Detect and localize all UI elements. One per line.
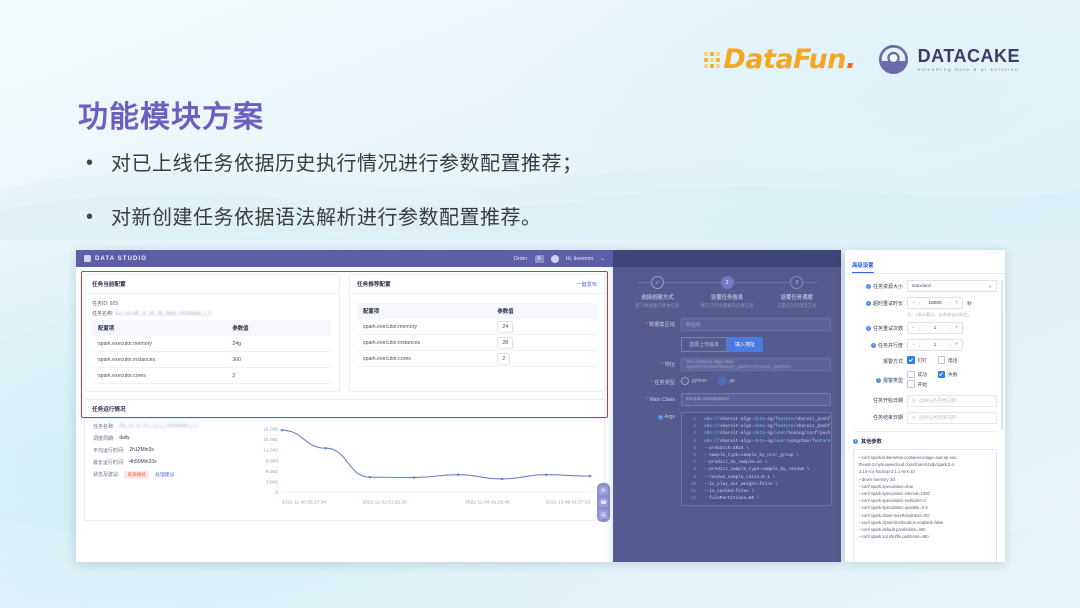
other-param-line: --conf spark.speculation.quantile=0.9 — [859, 504, 991, 511]
args-field-row: i Args 123456789101112 obs://shareit-alg… — [623, 412, 831, 506]
start-date-label: 任务开始日期 — [853, 397, 903, 404]
other-param-line: --conf spark.default.parallelism=480 — [859, 526, 991, 533]
table-header-row: 配置项 参数值 — [92, 320, 332, 336]
step-label: 设置任务调度 — [762, 293, 831, 301]
y-axis-tick-label: 0 — [275, 490, 278, 496]
code-line: obs://shareit-algo-data-sg/feature/share… — [704, 416, 831, 423]
other-param-line: --conf spark.speculation.multiplier=2 — [859, 497, 991, 504]
app-brand: DATA STUDIO — [84, 255, 147, 262]
floating-action-bar[interactable]: ✉ ☎ ▤ — [597, 483, 610, 522]
args-code-editor[interactable]: 123456789101112 obs://shareit-algo-data-… — [681, 412, 832, 506]
resource-size-value: standard — [912, 284, 931, 289]
create-task-panel: ✓ 选择创建方式 定义数据集的基本信息 2 设置任务信息 填写任务所需要的必要信… — [613, 250, 841, 562]
end-date-input[interactable]: ◷ 选择任务结束日期 — [907, 412, 997, 424]
step-check-icon: ✓ — [651, 276, 664, 289]
status-badge: 资源倾斜 — [124, 471, 148, 479]
publish-all-link[interactable]: 一键发布 — [576, 281, 597, 288]
tab-advanced-settings[interactable]: 高级设置 — [852, 261, 874, 273]
code-content: obs://shareit-algo-data-sg/feature/share… — [700, 416, 831, 502]
code-line-number: 1 — [682, 416, 696, 423]
chart-data-point — [545, 474, 547, 476]
mainclass-label: * Main Class — [623, 397, 675, 403]
task-id-row: 任务ID: 925 — [92, 300, 332, 307]
step-desc: 填写任务所需要的必要信息 — [693, 303, 762, 309]
datacake-logo: DATACAKE streaming data & ai solution — [878, 44, 1020, 75]
chart-data-point — [325, 447, 327, 449]
chart-data-point — [589, 475, 591, 477]
x-axis-tick-label: 2022-12-06 01:57:33 — [546, 500, 591, 506]
checkbox-checked-icon — [938, 371, 946, 379]
timeout-unit: 秒 — [967, 300, 972, 307]
radio-python[interactable]: python — [681, 377, 707, 385]
recommend-config-title: 任务推荐配置 — [357, 280, 391, 288]
mainclass-field-row: * Main Class sample.SampleBare — [623, 393, 831, 406]
column-header-value: 参数值 — [491, 303, 597, 319]
end-date-row: 任务结束日期 ◷ 选择任务结束日期 — [853, 412, 997, 424]
step-item-2[interactable]: 2 设置任务信息 填写任务所需要的必要信息 — [693, 276, 762, 309]
run-status-title: 任务运行情况 — [92, 405, 126, 413]
parallel-value[interactable]: 1 — [919, 343, 951, 348]
code-line-number: 12 — [682, 495, 696, 502]
bullet-list: • 对已上线任务依据历史执行情况进行参数配置推荐； • 对新创建任务依据语法解析… — [86, 152, 786, 260]
code-line-number: 6 — [682, 452, 696, 459]
run-field-row: 平均运行时间: 2h12Min3s — [93, 447, 243, 454]
source-mode-row: 选择上传版本 填入地址 — [623, 337, 831, 352]
chart-data-point — [369, 476, 371, 478]
resource-size-select[interactable]: standard ▼ — [907, 280, 997, 292]
advanced-settings-dialog: 高级设置 i任务资源大小 standard ▼ i超时重试时长 − 18000 … — [845, 250, 1005, 562]
other-param-line: --conf spark.speculation=true — [859, 483, 991, 490]
run-duration-chart: 03,0006,0009,00012,00015,00018,0002022-1… — [249, 423, 596, 514]
other-param-line: --conf spark.driver.maxResultSize=3G — [859, 512, 991, 519]
chart-data-point — [501, 478, 503, 480]
message-icon[interactable]: ✉ — [599, 486, 608, 495]
args-label: i Args — [623, 412, 675, 420]
info-icon: i — [866, 326, 871, 331]
info-icon: i — [658, 415, 663, 420]
language-badge-icon[interactable]: A — [535, 255, 544, 263]
code-line-number: 5 — [682, 445, 696, 452]
clock-icon: ◷ — [912, 415, 916, 421]
run-field-label: 任务名称: — [93, 423, 114, 430]
decrement-button[interactable]: − — [908, 325, 919, 331]
run-field-value: 4h50Min33s — [129, 459, 156, 465]
page-title: 功能模块方案 — [78, 92, 264, 136]
task-name-value: d-a_sa-sdk_ol_trti_rtp_daily_renhantao_t… — [115, 311, 211, 317]
end-date-placeholder: 选择任务结束日期 — [919, 415, 956, 421]
chart-data-point — [413, 476, 415, 478]
list-item: • 对新创建任务依据语法解析进行参数配置推荐。 — [86, 206, 786, 230]
region-input[interactable]: 新加坡 — [681, 318, 831, 331]
checkbox-failure[interactable]: 失败 — [938, 371, 958, 379]
checkbox-phone[interactable]: 电话 — [938, 356, 958, 364]
address-label: * 地址 — [623, 361, 675, 368]
timeout-row: i超时重试时长 − 18000 + 秒 — [853, 297, 997, 309]
recommend-config-table: 配置项 参数值 spark.executor.memory 24 spark.e… — [357, 303, 597, 367]
info-icon: i — [876, 378, 881, 383]
panel-header-bar — [613, 250, 841, 267]
current-config-title: 任务当前配置 — [92, 280, 126, 288]
code-line: --is_play_dur_weight=false \ — [704, 481, 831, 488]
datafun-logo: DataFun. — [704, 44, 855, 75]
run-status-label: 状态及建议: — [93, 471, 119, 478]
code-line-number: 7 — [682, 459, 696, 466]
dialog-tabs: 高级设置 — [845, 250, 1005, 274]
list-icon[interactable]: ▤ — [599, 510, 608, 519]
start-date-placeholder: 选择任务开始日期 — [919, 398, 956, 404]
alarm-type-row: i报警类型 成功 失败 开始 — [853, 371, 997, 390]
mainclass-input[interactable]: sample.SampleBare — [681, 393, 831, 406]
other-param-line: --conf spark.kubernetes.container.image=… — [859, 454, 991, 461]
retry-value[interactable]: 1 — [919, 326, 951, 331]
table-row: spark.executor.instances 300 — [92, 352, 332, 368]
checkbox-success[interactable]: 成功 — [907, 371, 927, 379]
config-value: 300 — [226, 352, 332, 368]
info-icon: i — [866, 301, 871, 306]
config-value-input[interactable]: 24 — [497, 321, 513, 333]
column-header-key: 配置项 — [357, 303, 491, 319]
radio-circle-selected-icon — [718, 377, 726, 385]
datacake-tagline: streaming data & ai solution — [918, 68, 1020, 73]
other-param-line: --conf spark.dynamicAllocation.enabled=f… — [859, 519, 991, 526]
run-status-card: 任务运行情况 任务名称: dw_ur_xx_ol_x_y_z_renhantao… — [84, 399, 605, 521]
run-field-row: 任务名称: dw_ur_xx_ol_x_y_z_renhantao_t_2 — [93, 423, 243, 430]
table-row: spark.executor.memory 24 — [357, 319, 597, 335]
checkbox-checked-icon — [907, 356, 915, 364]
other-param-line: theast-3.myhuaweicloud.com/shareit-bdp/s… — [859, 461, 991, 468]
config-value-input[interactable]: 2 — [497, 353, 510, 365]
timeout-value[interactable]: 18000 — [919, 301, 951, 306]
app-screenshot: DATA STUDIO Order A Hi, liweimin ⌄ 任务当前配… — [76, 250, 613, 562]
code-line: obs://shareit-algo-data-sg/feature/share… — [704, 423, 831, 430]
region-label: * 数据集区域 — [623, 321, 675, 328]
suggestion-link[interactable]: 处理建议 — [155, 473, 174, 478]
y-axis-tick-label: 18,000 — [263, 427, 278, 433]
retry-row: i任务重试次数 − 1 + — [853, 322, 997, 334]
retry-stepper[interactable]: − 1 + — [907, 322, 963, 334]
segment-upload-version[interactable]: 选择上传版本 — [681, 337, 727, 352]
chevron-down-icon[interactable]: ⌄ — [600, 256, 605, 262]
step-indicator: ✓ 选择创建方式 定义数据集的基本信息 2 设置任务信息 填写任务所需要的必要信… — [623, 276, 831, 309]
other-param-line: 3.14-rc4-hadoop-3.1.1-mrs-10 — [859, 468, 991, 475]
checkbox-icon — [907, 371, 915, 379]
order-menu[interactable]: Order — [514, 256, 528, 262]
app-logo-icon — [84, 255, 91, 262]
code-line-number: 2 — [682, 423, 696, 430]
timeout-hint: 注：0表示默认，由系统自动指定。 — [907, 312, 997, 317]
code-line: --random_sample_ratio=0.1 \ — [704, 474, 831, 481]
parallel-row: i任务并行度 − 1 + — [853, 339, 997, 351]
x-axis-tick-label: 2022-12-04 01:29:48 — [465, 500, 510, 506]
app-brand-label: DATA STUDIO — [95, 256, 147, 262]
code-line-number: 9 — [682, 474, 696, 481]
radio-jar[interactable]: jar — [718, 377, 735, 385]
datafun-dots-icon — [704, 52, 720, 68]
current-config-table: 配置项 参数值 spark.executor.memory 24g spark.… — [92, 320, 332, 384]
other-params-section-title: i 其他参数 — [853, 431, 997, 445]
alarm-way-label: 报警方式 — [853, 358, 903, 365]
headset-icon[interactable]: ☎ — [599, 498, 608, 507]
step-number: 2 — [721, 276, 734, 289]
checkbox-icon — [938, 356, 946, 364]
scrollbar[interactable] — [1001, 280, 1003, 430]
checkbox-dingtalk[interactable]: 钉钉 — [907, 356, 927, 364]
source-mode-segmented[interactable]: 选择上传版本 填入地址 — [681, 337, 831, 352]
chart-line-series — [282, 430, 590, 479]
code-line-number: 8 — [682, 466, 696, 473]
step-desc: 定义数据集的基本信息 — [623, 303, 692, 309]
line-chart-svg: 03,0006,0009,00012,00015,00018,0002022-1… — [249, 423, 596, 509]
code-line-numbers: 123456789101112 — [682, 416, 700, 502]
recommend-config-card: 任务推荐配置 一键发布 配置项 参数值 spark.executor.memor… — [349, 274, 605, 392]
retry-label: i任务重试次数 — [853, 325, 903, 332]
code-line: --filePartitions=50 \ — [704, 495, 831, 502]
code-line: --predict_do_sample=on \ — [704, 459, 831, 466]
x-axis-tick-label: 2022-12-02 01:52:26 — [362, 500, 407, 506]
datafun-wordmark: DataFun. — [723, 44, 855, 75]
y-axis-tick-label: 9,000 — [266, 458, 278, 464]
x-axis-tick-label: 2022-11-30 05:17:34 — [282, 500, 327, 506]
radio-circle-icon — [681, 377, 689, 385]
bullet-text: 对已上线任务依据历史执行情况进行参数配置推荐； — [111, 152, 583, 176]
increment-button[interactable]: + — [951, 325, 962, 331]
address-field-row: * 地址 obs://shareit-algo-data-sg/SPESh/us… — [623, 358, 831, 371]
increment-button[interactable]: + — [951, 342, 962, 348]
logo-row: DataFun. DATACAKE streaming data & ai so… — [704, 44, 1020, 75]
step-item-1[interactable]: ✓ 选择创建方式 定义数据集的基本信息 — [623, 276, 692, 309]
run-field-label: 平均运行时间: — [93, 447, 124, 454]
code-line-number: 3 — [682, 430, 696, 437]
config-key: spark.executor.instances — [357, 335, 491, 351]
info-icon: i — [866, 284, 871, 289]
config-key: spark.executor.cores — [92, 368, 226, 384]
task-name-row: 任务名称: d-a_sa-sdk_ol_trti_rtp_daily_renha… — [92, 310, 332, 317]
y-axis-tick-label: 3,000 — [266, 480, 278, 486]
code-line-number: 10 — [682, 481, 696, 488]
code-line-number: 4 — [682, 438, 696, 445]
app-header-bar: DATA STUDIO Order A Hi, liweimin ⌄ — [76, 250, 613, 267]
task-type-row: * 任务类型 python jar — [623, 377, 831, 387]
run-field-value: daily — [119, 435, 129, 441]
code-line: --predict_sample_type=sample_by_random \ — [704, 466, 831, 473]
run-field-label: 调度周期: — [93, 435, 114, 442]
y-axis-tick-label: 15,000 — [263, 437, 278, 443]
start-date-input[interactable]: ◷ 选择任务开始日期 — [907, 395, 997, 407]
task-id-value: 925 — [110, 301, 118, 307]
config-key: spark.executor.memory — [357, 319, 491, 335]
address-input[interactable]: obs://shareit-algo-data-sg/SPESh/user/fe… — [681, 358, 831, 371]
region-field-row: * 数据集区域 新加坡 — [623, 318, 831, 331]
chart-data-point — [281, 429, 283, 431]
alarm-type-label: i报警类型 — [853, 377, 903, 384]
datacake-name-b: CAKE — [967, 46, 1020, 66]
run-field-value: 2h12Min3s — [129, 447, 153, 453]
step-label: 设置任务信息 — [693, 293, 762, 301]
column-header-value: 参数值 — [226, 320, 332, 336]
end-date-label: 任务结束日期 — [853, 414, 903, 421]
table-row: spark.executor.memory 24g — [92, 336, 332, 352]
decrement-button[interactable]: − — [908, 342, 919, 348]
bullet-marker: • — [86, 206, 93, 228]
table-row: spark.executor.cores 2 — [92, 368, 332, 384]
step-item-3[interactable]: 3 设置任务调度 设置任务的调度方式 — [762, 276, 831, 309]
user-menu[interactable]: Hi, liweimin — [566, 256, 594, 262]
run-status-row: 状态及建议: 资源倾斜 处理建议 — [93, 471, 243, 479]
start-date-row: 任务开始日期 ◷ 选择任务开始日期 — [853, 395, 997, 407]
y-axis-tick-label: 6,000 — [266, 469, 278, 475]
run-field-label: 最长运行时间: — [93, 459, 124, 466]
code-line: --sample_type=sample_by_user_group \ — [704, 452, 831, 459]
task-type-label: * 任务类型 — [623, 379, 675, 386]
clock-icon: ◷ — [912, 398, 916, 404]
code-line: --prebatch=1024 \ — [704, 445, 831, 452]
info-icon: i — [871, 343, 876, 348]
table-header-row: 配置项 参数值 — [357, 303, 597, 319]
avatar[interactable] — [551, 255, 559, 263]
step-label: 选择创建方式 — [623, 293, 692, 301]
datacake-name-a: DATA — [918, 46, 967, 66]
chart-data-point — [457, 474, 459, 476]
current-config-card: 任务当前配置 任务ID: 925 任务名称: d-a_sa-sdk_ol_trt… — [84, 274, 340, 392]
bullet-marker: • — [86, 152, 93, 174]
config-value: 24g — [226, 336, 332, 352]
y-axis-tick-label: 12,000 — [263, 448, 278, 454]
other-param-line: --conf spark.speculation.interval=1000 — [859, 490, 991, 497]
run-field-row: 调度周期: daily — [93, 435, 243, 442]
timeout-stepper[interactable]: − 18000 + — [907, 297, 963, 309]
column-header-key: 配置项 — [92, 320, 226, 336]
table-row: spark.executor.instances 28 — [357, 335, 597, 351]
step-desc: 设置任务的调度方式 — [762, 303, 831, 309]
config-value: 2 — [226, 368, 332, 384]
chevron-down-icon: ▼ — [988, 284, 992, 289]
config-key: spark.executor.cores — [357, 351, 491, 367]
table-row: spark.executor.cores 2 — [357, 351, 597, 367]
segment-enter-address[interactable]: 填入地址 — [727, 337, 763, 352]
other-params-textarea[interactable]: --conf spark.kubernetes.container.image=… — [853, 449, 997, 562]
code-line: obs://shareit-algo-data-sg/user/husong/c… — [704, 430, 831, 437]
resource-size-label: i任务资源大小 — [853, 283, 903, 290]
step-number: 3 — [790, 276, 803, 289]
task-name-label: 任务名称: — [92, 311, 113, 317]
config-key: spark.executor.instances — [92, 352, 226, 368]
code-line: --is_cached=false \ — [704, 488, 831, 495]
info-icon: i — [853, 439, 858, 444]
config-value-input[interactable]: 28 — [497, 337, 513, 349]
other-param-line: --driver-memory 3G — [859, 476, 991, 483]
resource-size-row: i任务资源大小 standard ▼ — [853, 280, 997, 292]
list-item: • 对已上线任务依据历史执行情况进行参数配置推荐； — [86, 152, 786, 176]
run-field-value: dw_ur_xx_ol_x_y_z_renhantao_t_2 — [119, 423, 198, 429]
code-line: obs://shareit-algo-data-sg/user/yangchao… — [704, 438, 831, 445]
checkbox-icon — [907, 380, 915, 388]
alarm-way-row: 报警方式 钉钉 电话 — [853, 356, 997, 366]
checkbox-start[interactable]: 开始 — [907, 380, 927, 388]
timeout-label: i超时重试时长 — [853, 300, 903, 307]
task-id-label: 任务ID: — [92, 301, 108, 307]
parallel-stepper[interactable]: − 1 + — [907, 339, 963, 351]
increment-button[interactable]: + — [951, 300, 962, 306]
bullet-text: 对新创建任务依据语法解析进行参数配置推荐。 — [111, 206, 542, 230]
other-param-line: --conf spark.sql.shuffle.partitions=480 — [859, 533, 991, 540]
decrement-button[interactable]: − — [908, 300, 919, 306]
datacake-mark-icon — [878, 44, 909, 75]
code-line-number: 11 — [682, 488, 696, 495]
run-field-row: 最长运行时间: 4h50Min33s — [93, 459, 243, 466]
parallel-label: i任务并行度 — [853, 342, 903, 349]
config-key: spark.executor.memory — [92, 336, 226, 352]
